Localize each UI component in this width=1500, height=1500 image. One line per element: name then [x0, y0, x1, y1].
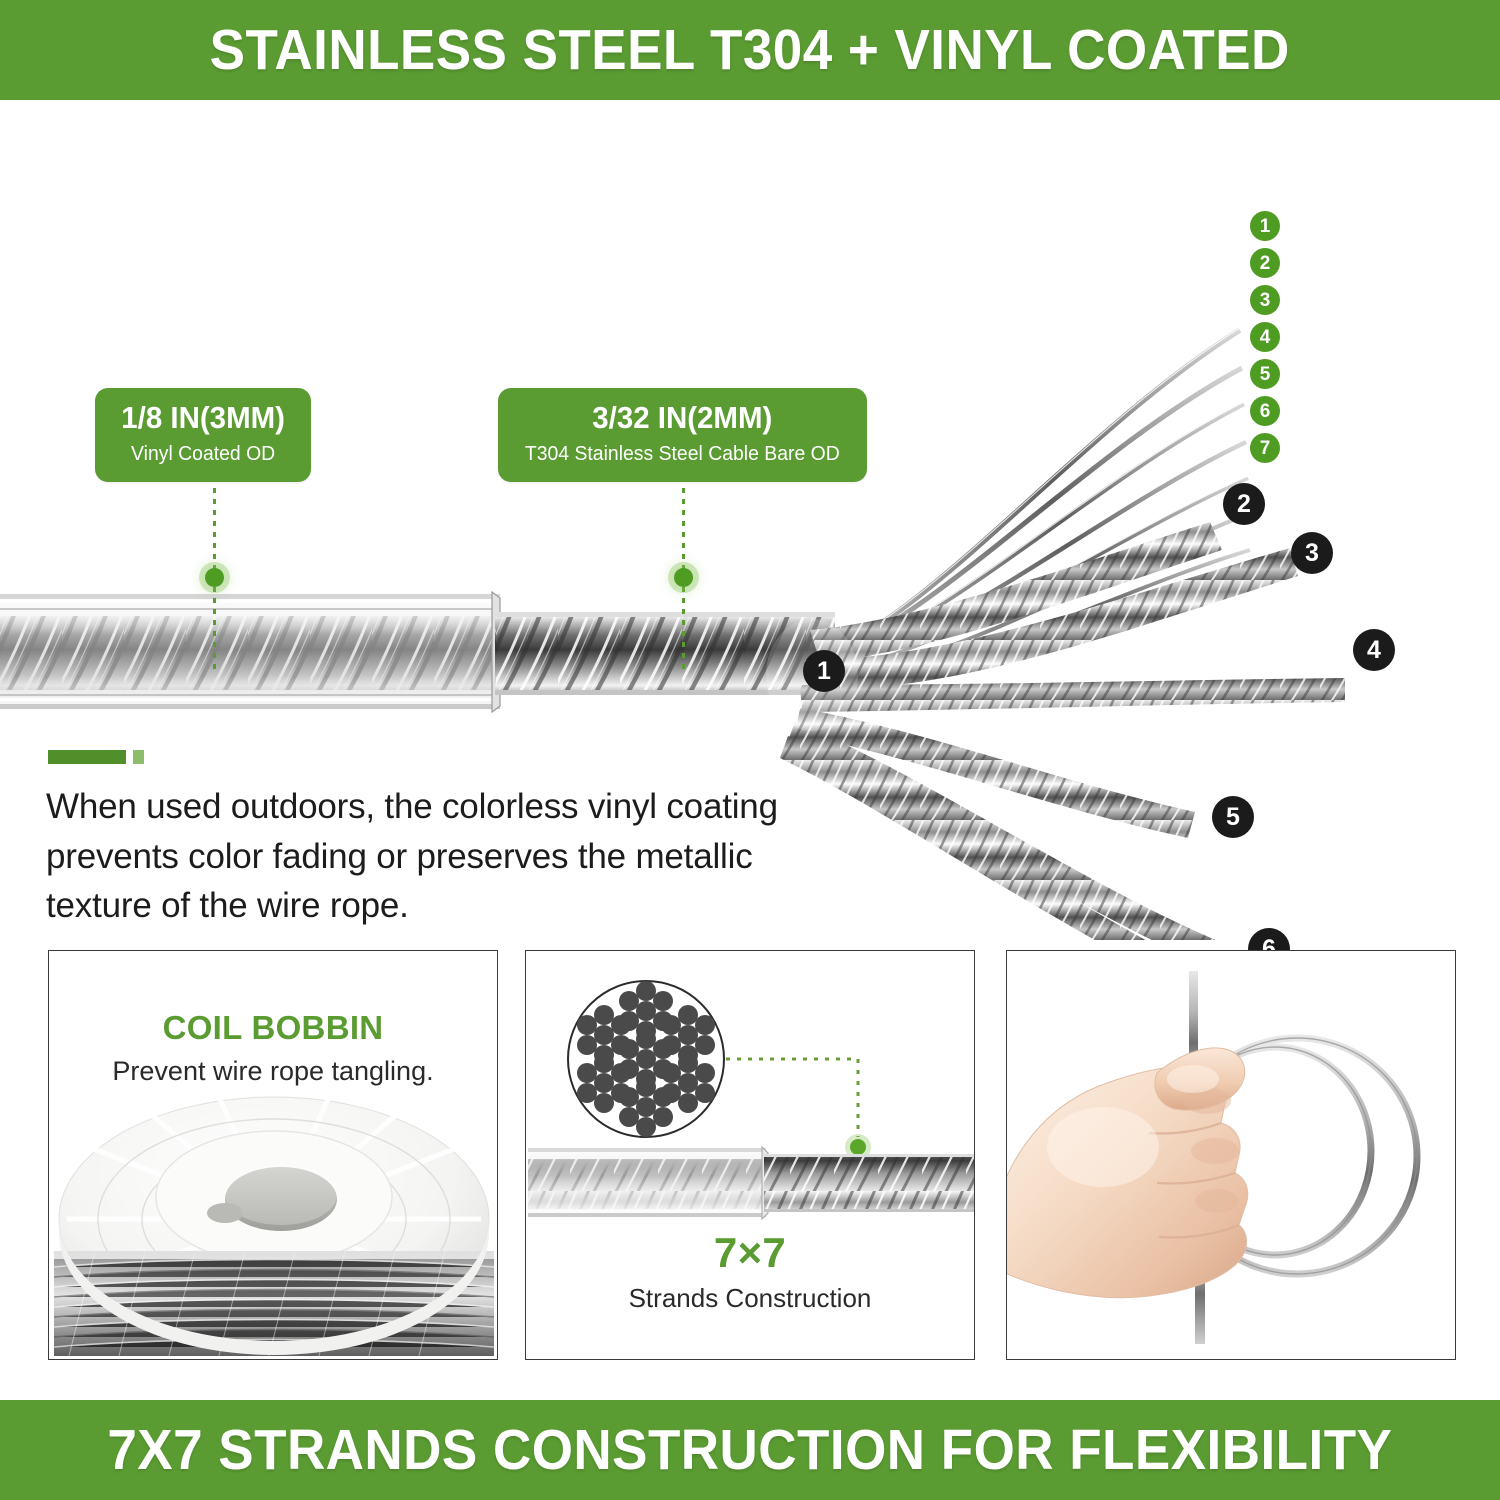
magnifier-leader [726, 1059, 858, 1137]
card-coil-bobbin: COIL BOBBIN Prevent wire rope tangling. [48, 950, 498, 1360]
strand-badge-3: 3 [1291, 532, 1333, 574]
leader-dot-vinyl [205, 568, 224, 587]
wire-badge-3: 3 [1250, 285, 1280, 315]
wire-badge-4: 4 [1250, 322, 1280, 352]
callout-bare-title: 3/32 IN(2MM) [528, 402, 836, 435]
card-bare-cable [764, 1154, 974, 1212]
top-banner-text: STAINLESS STEEL T304 + VINYL COATED [210, 22, 1290, 79]
hand [1007, 1048, 1248, 1298]
accent-bar-short [133, 750, 144, 764]
vinyl-coated-segment [0, 592, 500, 712]
description-text: When used outdoors, the colorless vinyl … [46, 782, 866, 931]
strand-badge-5: 5 [1212, 796, 1254, 838]
bottom-banner-text: 7X7 STRANDS CONSTRUCTION FOR FLEXIBILITY [107, 1422, 1392, 1479]
wire-badge-1: 1 [1250, 211, 1280, 241]
hand-holding-cable-photo [1007, 951, 1456, 1360]
callout-vinyl-title: 1/8 IN(3MM) [121, 402, 285, 435]
strands-title: 7×7 [526, 1229, 974, 1277]
card-flexibility-hand [1006, 950, 1456, 1360]
wire-badge-6: 6 [1250, 396, 1280, 426]
bottom-banner: 7X7 STRANDS CONSTRUCTION FOR FLEXIBILITY [0, 1400, 1500, 1500]
coil-bobbin-photo [49, 951, 498, 1360]
strand-badge-1: 1 [803, 650, 845, 692]
callout-vinyl-subtitle: Vinyl Coated OD [120, 442, 287, 466]
wire-badge-7: 7 [1250, 433, 1280, 463]
accent-bar-long [48, 750, 126, 764]
wire-badge-2: 2 [1250, 248, 1280, 278]
leader-dot-bare [674, 568, 693, 587]
card-coated-cable [528, 1147, 766, 1219]
wire-badge-5: 5 [1250, 359, 1280, 389]
strand-badge-2: 2 [1223, 483, 1265, 525]
top-banner: STAINLESS STEEL T304 + VINYL COATED [0, 0, 1500, 100]
strand-badge-4: 4 [1353, 629, 1395, 671]
card-strands-construction: 7×7 Strands Construction [525, 950, 975, 1360]
accent-bar [48, 750, 144, 764]
callout-bare-subtitle: T304 Stainless Steel Cable Bare OD [525, 442, 840, 466]
strands-subtitle: Strands Construction [526, 1283, 974, 1314]
coiled-cable [54, 1251, 494, 1356]
callout-vinyl-coated-od: 1/8 IN(3MM) Vinyl Coated OD [95, 388, 311, 482]
callout-bare-od: 3/32 IN(2MM) T304 Stainless Steel Cable … [498, 388, 867, 482]
